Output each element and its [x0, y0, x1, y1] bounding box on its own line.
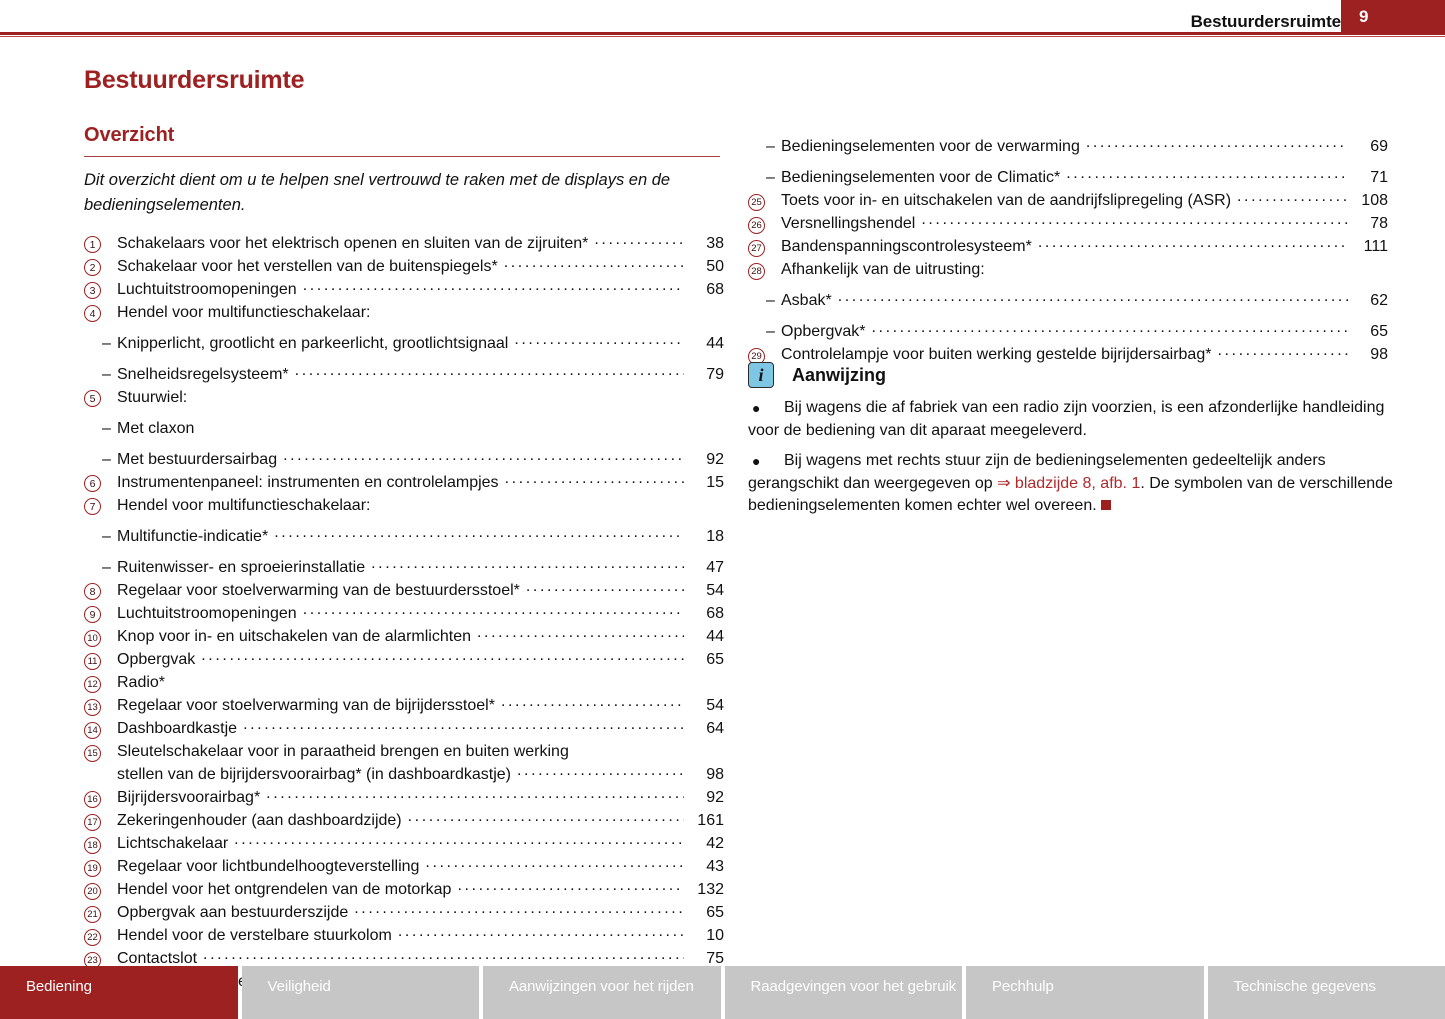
info-icon: i — [748, 362, 774, 388]
item-number-marker: 22 — [84, 929, 101, 946]
toc-page-number: 111 — [1354, 235, 1388, 258]
toc-label: Met bestuurdersairbag — [117, 448, 277, 471]
sub-item-marker-cell: – — [84, 332, 117, 353]
toc-row[interactable]: 9Luchtuitstroomopeningen................… — [84, 602, 724, 625]
toc-label: Luchtuitstroomopeningen — [117, 278, 297, 301]
sub-item-marker-cell: – — [84, 525, 117, 546]
toc-label: Instrumentenpaneel: instrumenten en cont… — [117, 471, 499, 494]
toc-page-number: 98 — [690, 763, 724, 786]
toc-label: Regelaar voor lichtbundelhoogteverstelli… — [117, 855, 419, 878]
toc-row[interactable]: 27Bandenspanningscontrolesysteem*.......… — [748, 235, 1388, 258]
item-number-marker: 21 — [84, 906, 101, 923]
toc-leader-dots: ........................................… — [514, 331, 684, 349]
toc-label: Bandenspanningscontrolesysteem* — [781, 235, 1032, 258]
toc-page-number: 18 — [690, 525, 724, 548]
toc-leader-dots: ........................................… — [371, 555, 684, 573]
toc-page-number: 68 — [690, 602, 724, 625]
bullet-icon: ● — [752, 450, 760, 473]
toc-page-number: 65 — [690, 901, 724, 924]
toc-entry: Instrumentenpaneel: instrumenten en cont… — [117, 471, 724, 494]
footer-tab-bar: BedieningVeiligheidAanwijzingen voor het… — [0, 966, 1445, 1019]
toc-entry: Met claxon — [117, 417, 724, 440]
toc-entry: Ruitenwisser- en sproeierinstallatie....… — [117, 556, 724, 579]
toc-entry: Hendel voor het ontgrendelen van de moto… — [117, 878, 724, 901]
toc-leader-dots: ........................................… — [1038, 234, 1348, 252]
item-number-marker: 10 — [84, 630, 101, 647]
item-number-marker: 18 — [84, 837, 101, 854]
toc-page-number: 54 — [690, 579, 724, 602]
sub-item-marker-cell: – — [84, 417, 117, 438]
item-marker-cell: 8 — [84, 579, 117, 600]
toc-page-number: 10 — [690, 924, 724, 947]
item-number-marker: 7 — [84, 498, 101, 515]
item-marker-cell: 2 — [84, 255, 117, 276]
toc-leader-dots: ........................................… — [201, 647, 684, 665]
item-number-marker: 12 — [84, 676, 101, 693]
item-marker-cell: 4 — [84, 301, 117, 322]
toc-row[interactable]: –Bedieningselementen voor de verwarming.… — [748, 135, 1388, 158]
toc-leader-dots: ........................................… — [283, 447, 684, 465]
toc-leader-dots: ........................................… — [501, 693, 684, 711]
toc-entry: Bedieningselementen voor de verwarming..… — [781, 135, 1388, 158]
toc-entry: Snelheidsregelsysteem*..................… — [117, 363, 724, 386]
sub-item-dash: – — [84, 528, 117, 546]
toc-page-number: 62 — [1354, 289, 1388, 312]
toc-entry: Bijrijdersvoorairbag*...................… — [117, 786, 724, 809]
item-marker-cell: 16 — [84, 786, 117, 808]
item-number-marker: 14 — [84, 722, 101, 739]
toc-leader-dots: ........................................… — [303, 601, 684, 619]
toc-page-number: 71 — [1354, 166, 1388, 189]
toc-entry: Dashboardkastje.........................… — [117, 717, 724, 740]
toc-label: Schakelaars voor het elektrisch openen e… — [117, 232, 588, 255]
toc-label: Regelaar voor stoelverwarming van de bes… — [117, 579, 520, 602]
end-of-section-marker — [1101, 500, 1111, 510]
toc-row[interactable]: 28Afhankelijk van de uitrusting: — [748, 258, 1388, 281]
toc-row[interactable]: 4Hendel voor multifunctieschakelaar: — [84, 301, 724, 324]
toc-leader-dots: ........................................… — [838, 288, 1348, 306]
item-number-marker: 8 — [84, 583, 101, 600]
toc-page-number: 64 — [690, 717, 724, 740]
toc-row[interactable]: 18Lichtschakelaar.......................… — [84, 832, 724, 855]
toc-leader-dots: ........................................… — [504, 254, 684, 272]
toc-leader-dots: ........................................… — [398, 923, 684, 941]
toc-page-number: 108 — [1354, 189, 1388, 212]
toc-row[interactable]: 5Stuurwiel: — [84, 386, 724, 409]
toc-label: Hendel voor de verstelbare stuurkolom — [117, 924, 392, 947]
toc-row[interactable]: –Snelheidsregelsysteem*.................… — [84, 363, 724, 386]
toc-label: Opbergvak* — [781, 320, 866, 343]
toc-entry: Radio* — [117, 671, 724, 694]
toc-entry: Opbergvak aan bestuurderszijde..........… — [117, 901, 724, 924]
toc-row[interactable]: 21Opbergvak aan bestuurderszijde........… — [84, 901, 724, 924]
item-number-marker: 27 — [748, 240, 765, 257]
item-marker-cell: 26 — [748, 212, 781, 234]
sub-item-marker-cell: – — [84, 448, 117, 469]
toc-entry: Luchtuitstroomopeningen.................… — [117, 278, 724, 301]
toc-row[interactable]: –Asbak*.................................… — [748, 289, 1388, 312]
toc-label: Luchtuitstroomopeningen — [117, 602, 297, 625]
cross-reference-link[interactable]: ⇒ bladzijde 8, afb. 1 — [997, 475, 1140, 492]
item-number-marker: 13 — [84, 699, 101, 716]
toc-row[interactable]: –Ruitenwisser- en sproeierinstallatie...… — [84, 556, 724, 579]
footer-tab[interactable]: Raadgevingen voor het gebruik — [725, 966, 963, 1019]
toc-label: Snelheidsregelsysteem* — [117, 363, 289, 386]
toc-leader-dots: ........................................… — [1066, 165, 1348, 183]
toc-leader-dots: ........................................… — [425, 854, 684, 872]
toc-row[interactable]: 7Hendel voor multifunctieschakelaar: — [84, 494, 724, 517]
page-number: 9 — [1359, 7, 1368, 27]
note-paragraph-2: ● Bij wagens met rechts stuur zijn de be… — [748, 450, 1398, 518]
item-number-marker: 17 — [84, 814, 101, 831]
toc-label: Zekeringenhouder (aan dashboardzijde) — [117, 809, 402, 832]
toc-label-continuation: stellen van de bijrijdersvoorairbag* (in… — [117, 763, 511, 786]
toc-page-number: 54 — [690, 694, 724, 717]
toc-row[interactable]: 13Regelaar voor stoelverwarming van de b… — [84, 694, 724, 717]
item-marker-cell: 12 — [84, 671, 117, 693]
item-number-marker: 6 — [84, 475, 101, 492]
sub-item-marker-cell: – — [84, 556, 117, 577]
toc-label: Hendel voor multifunctieschakelaar: — [117, 494, 370, 517]
toc-row[interactable]: –Multifunctie-indicatie*................… — [84, 525, 724, 548]
item-marker-cell: 18 — [84, 832, 117, 854]
item-number-marker: 11 — [84, 653, 101, 670]
toc-label: Hendel voor multifunctieschakelaar: — [117, 301, 370, 324]
note-paragraph-1-text: Bij wagens die af fabriek van een radio … — [748, 399, 1384, 439]
item-number-marker: 25 — [748, 194, 765, 211]
toc-row[interactable]: 14Dashboardkastje.......................… — [84, 717, 724, 740]
toc-entry: Knipperlicht, grootlicht en parkeerlicht… — [117, 332, 724, 355]
toc-label: Regelaar voor stoelverwarming van de bij… — [117, 694, 495, 717]
toc-entry: Luchtuitstroomopeningen.................… — [117, 602, 724, 625]
item-marker-cell: 17 — [84, 809, 117, 831]
item-marker-cell: 22 — [84, 924, 117, 946]
toc-row[interactable]: 6Instrumentenpaneel: instrumenten en con… — [84, 471, 724, 494]
note-block: i Aanwijzing ● Bij wagens die af fabriek… — [748, 362, 1398, 526]
sub-item-dash: – — [748, 323, 781, 341]
toc-page-number: 65 — [1354, 320, 1388, 343]
note-paragraph-1: ● Bij wagens die af fabriek van een radi… — [748, 397, 1398, 442]
toc-label: Opbergvak — [117, 648, 195, 671]
toc-entry: Multifunctie-indicatie*.................… — [117, 525, 724, 548]
item-marker-cell: 25 — [748, 189, 781, 211]
section-title: Overzicht — [84, 124, 174, 147]
toc-label: Dashboardkastje — [117, 717, 237, 740]
sub-item-marker-cell: – — [748, 289, 781, 310]
item-marker-cell: 3 — [84, 278, 117, 299]
toc-leader-dots: ........................................… — [234, 831, 684, 849]
item-number-marker: 16 — [84, 791, 101, 808]
toc-entry: Asbak*..................................… — [781, 289, 1388, 312]
toc-row[interactable]: –Knipperlicht, grootlicht en parkeerlich… — [84, 332, 724, 355]
toc-row[interactable]: 25Toets voor in- en uitschakelen van de … — [748, 189, 1388, 212]
toc-leader-dots: ........................................… — [457, 877, 684, 895]
sub-item-dash: – — [748, 169, 781, 187]
toc-entry: Regelaar voor stoelverwarming van de bes… — [117, 579, 724, 602]
toc-row[interactable]: 3Luchtuitstroomopeningen................… — [84, 278, 724, 301]
toc-entry: Opbergvak...............................… — [117, 648, 724, 671]
toc-leader-dots: ........................................… — [266, 785, 684, 803]
toc-entry: Opbergvak*..............................… — [781, 320, 1388, 343]
toc-leader-dots: ........................................… — [517, 762, 684, 780]
section-divider — [84, 156, 720, 157]
toc-label: Multifunctie-indicatie* — [117, 525, 268, 548]
toc-label: Lichtschakelaar — [117, 832, 228, 855]
item-marker-cell: 28 — [748, 258, 781, 280]
note-header: i Aanwijzing — [748, 362, 1398, 388]
toc-row[interactable]: 1Schakelaars voor het elektrisch openen … — [84, 232, 724, 255]
header-rule — [0, 32, 1445, 35]
item-marker-cell: 11 — [84, 648, 117, 670]
header-title: Bestuurdersruimte — [1191, 12, 1341, 32]
item-number-marker: 15 — [84, 745, 101, 762]
toc-label: Stuurwiel: — [117, 386, 187, 409]
toc-leader-dots: ........................................… — [295, 362, 684, 380]
toc-label: Versnellingshendel — [781, 212, 915, 235]
toc-label: Knipperlicht, grootlicht en parkeerlicht… — [117, 332, 508, 355]
toc-leader-dots: ........................................… — [1217, 342, 1348, 360]
sub-item-dash: – — [84, 559, 117, 577]
footer-tab[interactable]: Bediening — [0, 966, 238, 1019]
toc-row[interactable]: –Met claxon — [84, 417, 724, 440]
toc-entry: Hendel voor de verstelbare stuurkolom...… — [117, 924, 724, 947]
toc-leader-dots: ........................................… — [303, 277, 684, 295]
toc-label: Ruitenwisser- en sproeierinstallatie — [117, 556, 365, 579]
item-marker-cell: 1 — [84, 232, 117, 253]
item-marker-cell: 7 — [84, 494, 117, 515]
toc-entry: Hendel voor multifunctieschakelaar: — [117, 301, 724, 324]
toc-row[interactable]: 22Hendel voor de verstelbare stuurkolom.… — [84, 924, 724, 947]
toc-row[interactable]: 11Opbergvak.............................… — [84, 648, 724, 671]
toc-row[interactable]: 17Zekeringenhouder (aan dashboardzijde).… — [84, 809, 724, 832]
sub-item-dash: – — [84, 420, 117, 438]
item-marker-cell: 9 — [84, 602, 117, 623]
toc-leader-dots: ........................................… — [1237, 188, 1348, 206]
sub-item-marker-cell: – — [748, 135, 781, 156]
toc-leader-dots: ........................................… — [872, 319, 1349, 337]
toc-leader-dots: ........................................… — [408, 808, 684, 826]
toc-label: Schakelaar voor het verstellen van de bu… — [117, 255, 498, 278]
footer-tab[interactable]: Pechhulp — [966, 966, 1204, 1019]
header-rule-hairline — [0, 36, 1445, 37]
page-header: Bestuurdersruimte 9 — [0, 0, 1445, 32]
toc-leader-dots: ........................................… — [921, 211, 1348, 229]
item-marker-cell: 14 — [84, 717, 117, 739]
toc-entry: Versnellingshendel......................… — [781, 212, 1388, 235]
toc-label: Toets voor in- en uitschakelen van de aa… — [781, 189, 1231, 212]
toc-entry: Schakelaars voor het elektrisch openen e… — [117, 232, 724, 255]
toc-page-number: 44 — [690, 625, 724, 648]
toc-page-number: 42 — [690, 832, 724, 855]
item-number-marker: 2 — [84, 259, 101, 276]
item-number-marker: 28 — [748, 263, 765, 280]
toc-row[interactable]: 19Regelaar voor lichtbundelhoogteverstel… — [84, 855, 724, 878]
toc-page-number: 92 — [690, 448, 724, 471]
footer-tab[interactable]: Veiligheid — [242, 966, 480, 1019]
item-number-marker: 19 — [84, 860, 101, 877]
toc-row[interactable]: 10Knop voor in- en uitschakelen van de a… — [84, 625, 724, 648]
toc-leader-dots: ........................................… — [526, 578, 684, 596]
toc-entry: Bedieningselementen voor de Climatic*...… — [781, 166, 1388, 189]
item-marker-cell: 19 — [84, 855, 117, 877]
page-number-block: 9 — [1341, 0, 1445, 32]
toc-page-number: 92 — [690, 786, 724, 809]
toc-row[interactable]: 2Schakelaar voor het verstellen van de b… — [84, 255, 724, 278]
toc-row[interactable]: –Met bestuurdersairbag..................… — [84, 448, 724, 471]
toc-page-number: 50 — [690, 255, 724, 278]
toc-leader-dots: ........................................… — [274, 524, 684, 542]
toc-row[interactable]: 12Radio* — [84, 671, 724, 694]
toc-label: Bedieningselementen voor de Climatic* — [781, 166, 1060, 189]
toc-page-number: 44 — [690, 332, 724, 355]
footer-tab[interactable]: Aanwijzingen voor het rijden — [483, 966, 721, 1019]
toc-label: Bijrijdersvoorairbag* — [117, 786, 260, 809]
toc-row[interactable]: –Bedieningselementen voor de Climatic*..… — [748, 166, 1388, 189]
toc-entry-multiline: Sleutelschakelaar voor in paraatheid bre… — [117, 740, 724, 786]
sub-item-marker-cell: – — [84, 363, 117, 384]
toc-page-number: 132 — [690, 878, 724, 901]
toc-label: Hendel voor het ontgrendelen van de moto… — [117, 878, 451, 901]
item-marker-cell: 10 — [84, 625, 117, 647]
toc-leader-dots: ........................................… — [505, 470, 684, 488]
bullet-icon: ● — [752, 397, 760, 420]
note-title: Aanwijzing — [792, 365, 886, 386]
footer-tab[interactable]: Technische gegevens — [1208, 966, 1445, 1019]
toc-entry: Lichtschakelaar.........................… — [117, 832, 724, 855]
sub-item-dash: – — [84, 451, 117, 469]
toc-entry: Afhankelijk van de uitrusting: — [781, 258, 1388, 281]
item-marker-cell: 15 — [84, 740, 117, 762]
toc-page-number: 79 — [690, 363, 724, 386]
chapter-title: Bestuurdersruimte — [84, 66, 304, 95]
toc-entry: Regelaar voor stoelverwarming van de bij… — [117, 694, 724, 717]
toc-page-number: 78 — [1354, 212, 1388, 235]
toc-entry: Knop voor in- en uitschakelen van de ala… — [117, 625, 724, 648]
sub-item-marker-cell: – — [748, 320, 781, 341]
toc-page-number: 65 — [690, 648, 724, 671]
toc-entry: Regelaar voor lichtbundelhoogteverstelli… — [117, 855, 724, 878]
toc-row[interactable]: –Opbergvak*.............................… — [748, 320, 1388, 343]
toc-leader-dots: ........................................… — [203, 946, 684, 964]
toc-label: Sleutelschakelaar voor in paraatheid bre… — [117, 740, 724, 763]
sub-item-dash: – — [748, 292, 781, 310]
toc-row[interactable]: 16Bijrijdersvoorairbag*.................… — [84, 786, 724, 809]
toc-label: Opbergvak aan bestuurderszijde — [117, 901, 348, 924]
toc-label: Knop voor in- en uitschakelen van de ala… — [117, 625, 471, 648]
item-marker-cell: 13 — [84, 694, 117, 716]
item-marker-cell: 5 — [84, 386, 117, 407]
toc-entry: Zekeringenhouder (aan dashboardzijde)...… — [117, 809, 724, 832]
item-marker-cell: 27 — [748, 235, 781, 257]
toc-entry: Met bestuurdersairbag...................… — [117, 448, 724, 471]
toc-label: Bedieningselementen voor de verwarming — [781, 135, 1080, 158]
item-number-marker: 26 — [748, 217, 765, 234]
item-marker-cell: 21 — [84, 901, 117, 923]
toc-page-number: 47 — [690, 556, 724, 579]
item-number-marker: 1 — [84, 236, 101, 253]
toc-leader-dots: ........................................… — [1086, 134, 1348, 152]
toc-page-number: 38 — [690, 232, 724, 255]
toc-label: Asbak* — [781, 289, 832, 312]
item-number-marker: 9 — [84, 606, 101, 623]
item-number-marker: 4 — [84, 305, 101, 322]
item-marker-cell: 20 — [84, 878, 117, 900]
toc-row[interactable]: 26Versnellingshendel....................… — [748, 212, 1388, 235]
toc-row[interactable]: 15Sleutelschakelaar voor in paraatheid b… — [84, 740, 724, 786]
toc-left-column: 1Schakelaars voor het elektrisch openen … — [84, 232, 724, 993]
toc-leader-dots: ........................................… — [354, 900, 684, 918]
toc-page-number: 161 — [690, 809, 724, 832]
sub-item-dash: – — [84, 366, 117, 384]
toc-entry: Hendel voor multifunctieschakelaar: — [117, 494, 724, 517]
toc-entry: Bandenspanningscontrolesysteem*.........… — [781, 235, 1388, 258]
toc-right-column: –Bedieningselementen voor de verwarming.… — [748, 127, 1388, 366]
item-number-marker: 20 — [84, 883, 101, 900]
toc-page-number: 69 — [1354, 135, 1388, 158]
toc-entry: Schakelaar voor het verstellen van de bu… — [117, 255, 724, 278]
toc-entry: Toets voor in- en uitschakelen van de aa… — [781, 189, 1388, 212]
toc-leader-dots: ........................................… — [594, 231, 684, 249]
sub-item-marker-cell: – — [748, 166, 781, 187]
toc-page-number: 43 — [690, 855, 724, 878]
toc-label: Met claxon — [117, 417, 194, 440]
item-number-marker: 5 — [84, 390, 101, 407]
item-marker-cell: 6 — [84, 471, 117, 492]
toc-row[interactable]: 8Regelaar voor stoelverwarming van de be… — [84, 579, 724, 602]
toc-page-number: 15 — [690, 471, 724, 494]
toc-leader-dots: ........................................… — [477, 624, 684, 642]
toc-leader-dots: ........................................… — [243, 716, 684, 734]
item-number-marker: 3 — [84, 282, 101, 299]
sub-item-dash: – — [748, 138, 781, 156]
toc-row[interactable]: 20Hendel voor het ontgrendelen van de mo… — [84, 878, 724, 901]
toc-page-number: 68 — [690, 278, 724, 301]
toc-entry: Stuurwiel: — [117, 386, 724, 409]
intro-text: Dit overzicht dient om u te helpen snel … — [84, 168, 724, 218]
toc-label-continuation-line: stellen van de bijrijdersvoorairbag* (in… — [117, 763, 724, 786]
sub-item-dash: – — [84, 335, 117, 353]
toc-label: Radio* — [117, 671, 165, 694]
toc-label: Afhankelijk van de uitrusting: — [781, 258, 985, 281]
